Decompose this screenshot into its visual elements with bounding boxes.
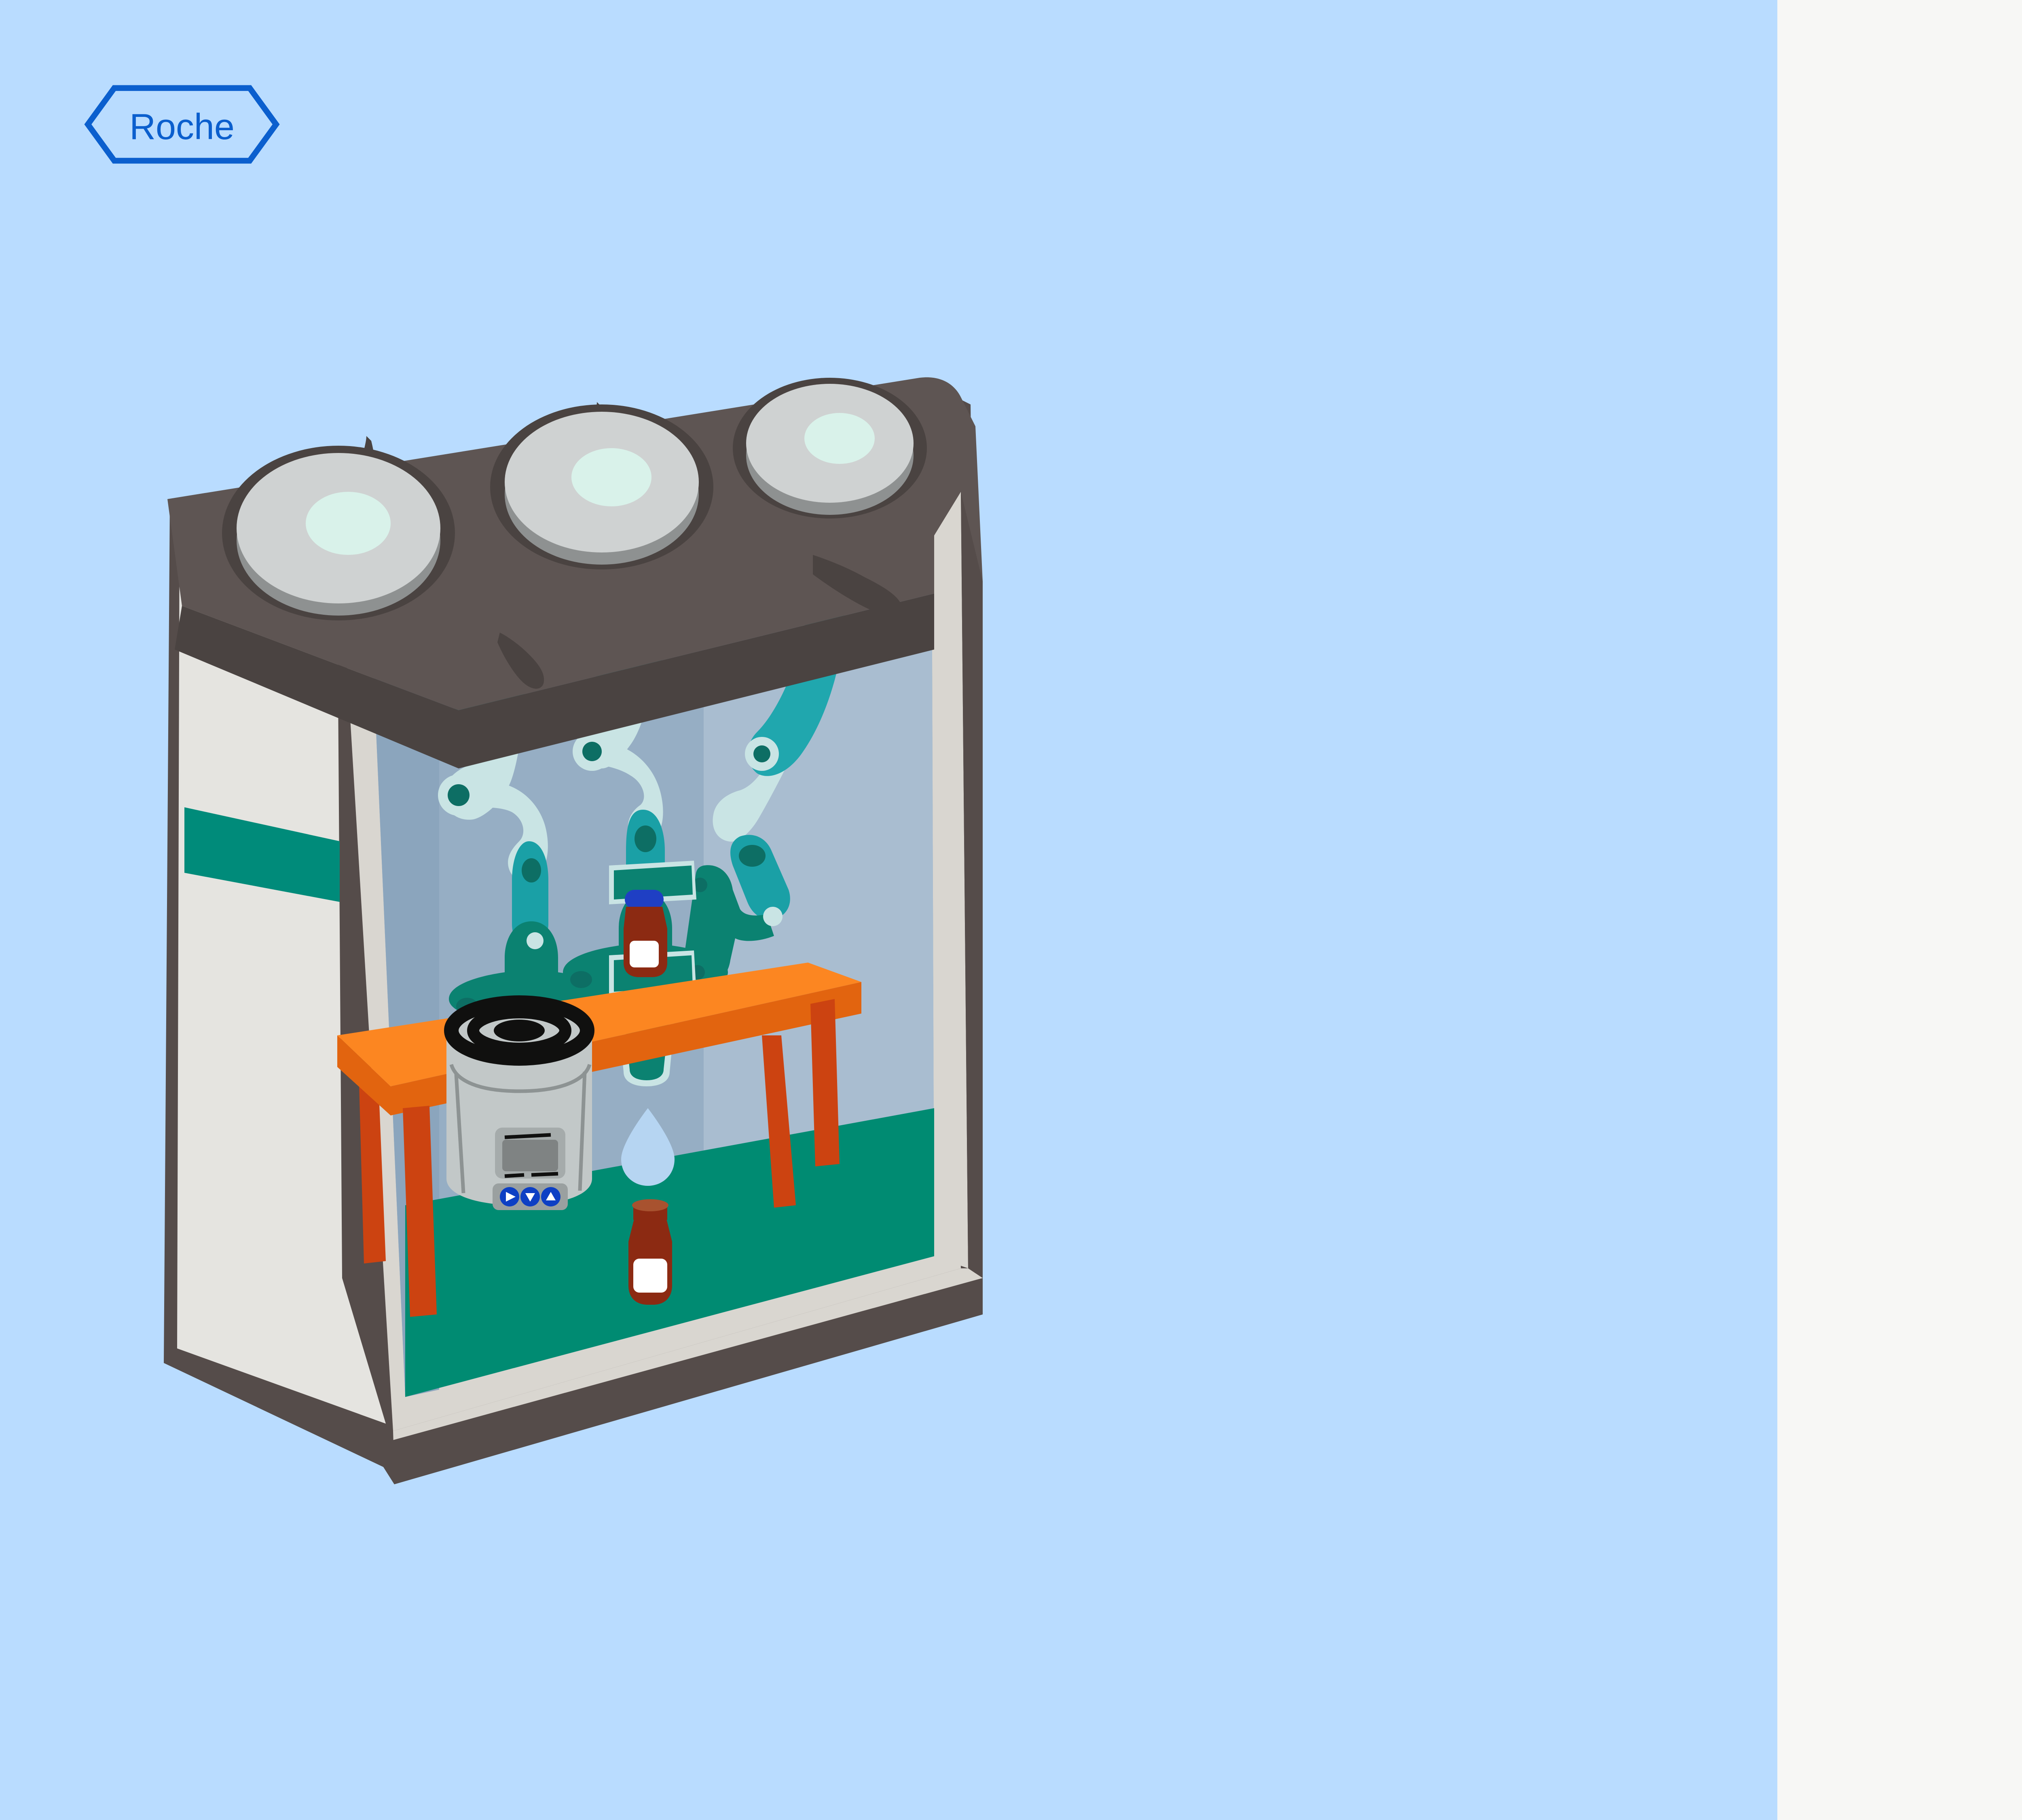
roche-logo: Roche [83,83,281,166]
disc-unit-3[interactable] [733,378,927,518]
arm-mid-bolt-left [570,971,592,988]
bottle-right-cap [625,890,664,909]
centrifuge-screen-bottom-line-b [531,1174,558,1175]
arm-left-wrist-screw [522,858,541,882]
table-leg-front-right [810,999,840,1166]
disc-unit-1[interactable] [222,446,455,620]
centrifuge-ring-2 [494,1020,545,1041]
arm-left-joint-inner [448,784,470,806]
disc-3-center [804,413,875,464]
centrifuge-screen[interactable] [502,1140,558,1171]
disc-1-center [306,492,391,555]
roche-logo-text: Roche [129,107,235,147]
bottle-right-label [630,941,659,967]
bottle-table-label [633,1259,667,1293]
reagent-bottle-on-table [628,1199,672,1305]
arm-right-forearm-screw [739,845,766,867]
disc-2-center [571,448,651,506]
arm-right-joint2-inner [753,745,770,762]
analyzer-illustration [133,356,1783,1589]
roche-logo-svg: Roche [83,83,281,166]
arm-mid-joint-inner [582,742,602,761]
analyzer-illustration-svg [133,356,1783,1589]
centrifuge-device [446,997,592,1210]
background-right-panel [1777,0,2022,1820]
arm-right-bracket-pivot [763,907,783,926]
arm-left-gripper-indicator [527,932,544,949]
reagent-bottle-right [624,890,667,977]
slide-root: Roche R Thrive with excellence. [0,0,2022,1820]
disc-unit-2[interactable] [490,404,713,569]
centrifuge-screen-bottom-line-a [505,1175,524,1176]
arm-mid-wrist-screw [635,825,656,852]
centrifuge-screen-top-line [505,1135,551,1137]
bottle-table-opening [632,1199,668,1211]
